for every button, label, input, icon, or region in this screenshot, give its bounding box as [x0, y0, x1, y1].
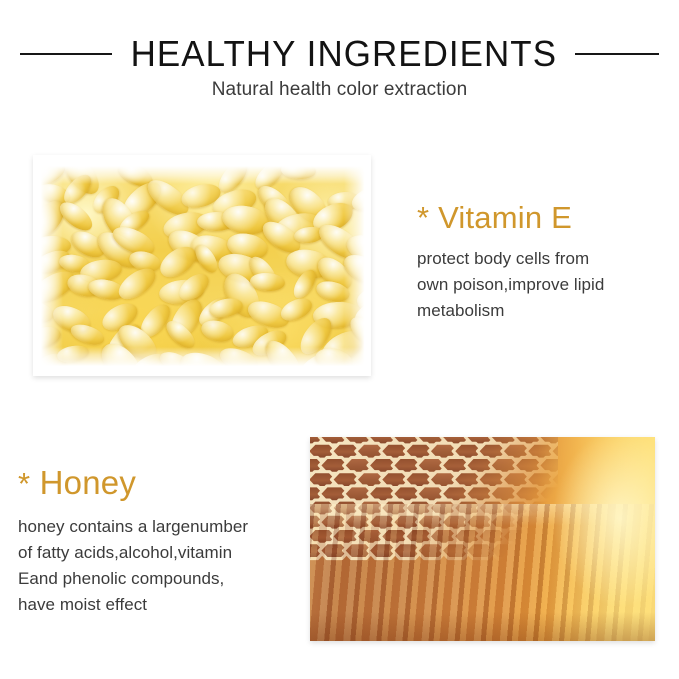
description-line: protect body cells from [417, 246, 665, 272]
description-line: of fatty acids,alcohol,vitamin [18, 540, 308, 566]
asterisk-bullet-icon: * [417, 200, 429, 235]
header: HEALTHY INGREDIENTS Natural health color… [0, 0, 679, 110]
description-line: honey contains a largenumber [18, 514, 308, 540]
ingredient-block-honey: * Honey honey contains a largenumber of … [18, 462, 308, 618]
title-rule-left-icon [20, 53, 112, 55]
description-line: have moist effect [18, 592, 308, 618]
capsules-fade-bottom [33, 347, 371, 376]
ingredient-name-honey: Honey [40, 464, 136, 501]
capsules-image-inner [33, 155, 371, 376]
ingredient-name-vitamin-e: Vitamin E [438, 200, 572, 235]
capsules-fade-right [344, 155, 371, 376]
page-title: HEALTHY INGREDIENTS [130, 33, 556, 75]
ingredient-description-vitamin-e: protect body cells from own poison,impro… [417, 246, 665, 324]
description-line: metabolism [417, 298, 665, 324]
honeycomb-image [310, 437, 655, 641]
capsules-fade-top [33, 155, 371, 184]
honey-highlight-right [538, 437, 655, 641]
capsule [199, 317, 236, 344]
description-line: Eand phenolic compounds, [18, 566, 308, 592]
page-subtitle: Natural health color extraction [0, 78, 679, 102]
asterisk-bullet-icon: * [18, 466, 30, 501]
ingredient-block-vitamin-e: * Vitamin E protect body cells from own … [417, 198, 665, 324]
description-line: own poison,improve lipid [417, 272, 665, 298]
capsules-fade-left [33, 155, 63, 376]
title-row: HEALTHY INGREDIENTS [0, 33, 679, 75]
infographic-page: HEALTHY INGREDIENTS Natural health color… [0, 0, 679, 679]
ingredient-heading-honey: * Honey [18, 462, 308, 505]
title-rule-right-icon [575, 53, 659, 55]
ingredient-heading-vitamin-e: * Vitamin E [417, 198, 665, 238]
capsules-cluster [33, 155, 371, 376]
ingredient-description-honey: honey contains a largenumber of fatty ac… [18, 514, 308, 618]
honeycomb-image-inner [310, 437, 655, 641]
honeycomb-shadow-bottom [310, 612, 655, 641]
vitamin-e-capsules-image [33, 155, 371, 376]
